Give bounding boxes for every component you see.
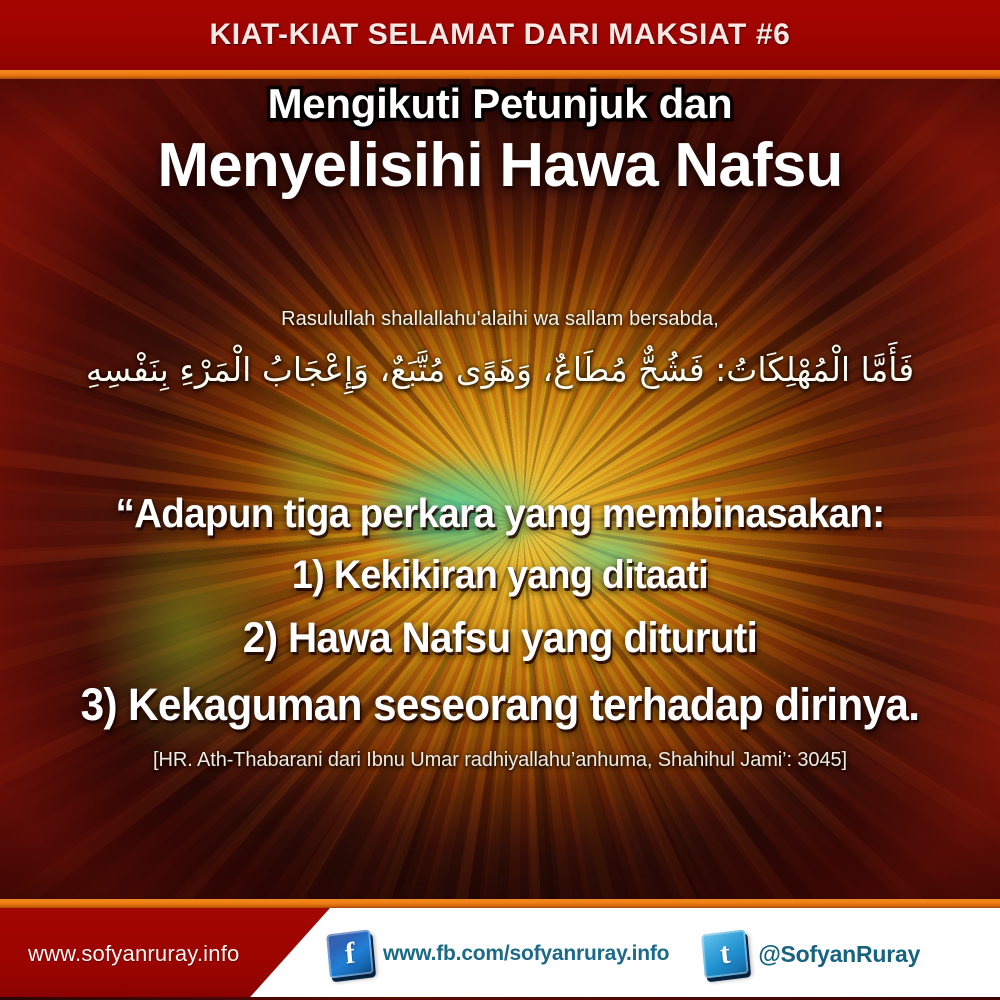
title-line-2: Menyelisihi Hawa Nafsu [0,132,1000,200]
twitter-icon-glyph: t [702,929,750,978]
footer-bar: www.sofyanruray.info f www.fb.com/sofyan… [0,908,1000,1000]
facebook-icon-glyph: f [326,929,374,978]
translation-item-3: 3) Kekaguman seseorang terhadap dirinya. [30,679,970,731]
twitter-handle[interactable]: @SofyanRuray [758,941,920,968]
facebook-link[interactable]: www.fb.com/sofyanruray.info [383,942,669,966]
translation-item-2: 2) Hawa Nafsu yang dituruti [30,614,970,663]
translation-block: “Adapun tiga perkara yang membinasakan: … [0,490,1000,772]
header-bar: KIAT-KIAT SELAMAT DARI MAKSIAT #6 [0,0,1000,70]
facebook-icon[interactable]: f [326,929,374,978]
footer-orange-stripe [0,899,1000,908]
title-block: Mengikuti Petunjuk dan Menyelisihi Hawa … [0,80,1000,200]
translation-item-1: 1) Kekikiran yang ditaati [30,553,970,598]
footer-website-panel: www.sofyanruray.info [0,908,330,1000]
footer-social-panel: f www.fb.com/sofyanruray.info t @SofyanR… [320,908,1000,1000]
twitter-group[interactable]: t @SofyanRuray [703,932,920,976]
hadith-citation: [HR. Ath-Thabarani dari Ibnu Umar radhiy… [0,749,1000,772]
series-title: KIAT-KIAT SELAMAT DARI MAKSIAT #6 [210,18,791,52]
twitter-icon[interactable]: t [702,929,750,978]
title-line-1: Mengikuti Petunjuk dan [0,80,1000,128]
facebook-group[interactable]: f www.fb.com/sofyanruray.info [328,932,669,976]
poster: KIAT-KIAT SELAMAT DARI MAKSIAT #6 Mengik… [0,0,1000,1000]
translation-lead: “Adapun tiga perkara yang membinasakan: [30,490,970,537]
hadith-intro: Rasulullah shallallahu'alaihi wa sallam … [0,308,1000,331]
header-orange-stripe [0,70,1000,79]
hadith-block: Rasulullah shallallahu'alaihi wa sallam … [0,308,1000,399]
website-link[interactable]: www.sofyanruray.info [28,941,239,967]
hadith-arabic-text: فَأَمَّا الْمُهْلِكَاتُ: فَشُحٌّ مُطَاعٌ… [0,341,1000,399]
